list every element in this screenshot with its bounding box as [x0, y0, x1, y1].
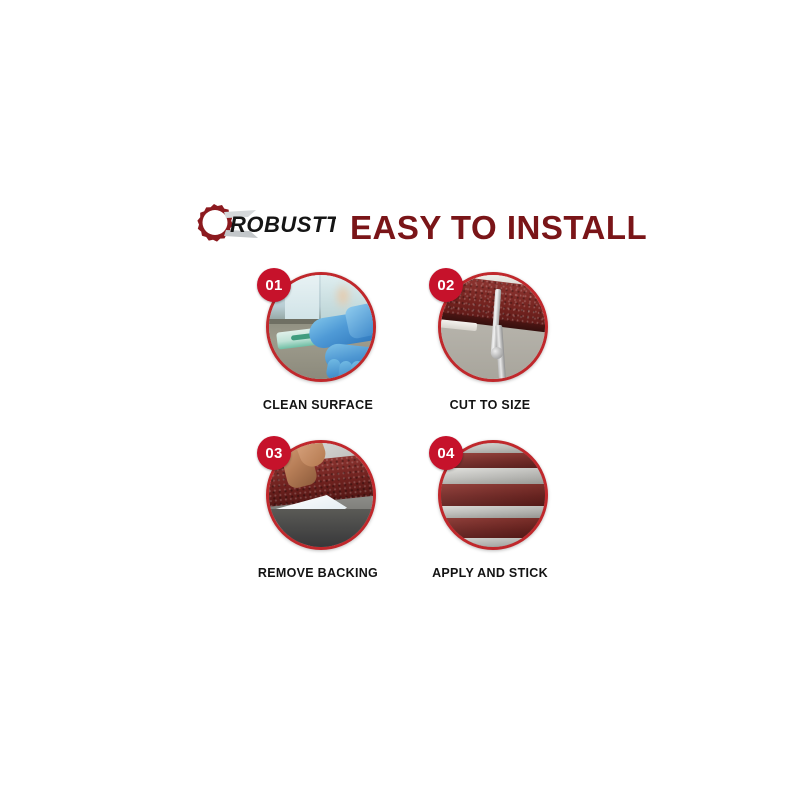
scissors-pivot — [491, 347, 503, 359]
steps-grid: 01 CLEAN SURFACE 02 — [232, 272, 568, 602]
step-3-image-wrap: 03 — [266, 440, 376, 550]
step-1-number-badge: 01 — [257, 268, 291, 302]
step-2-label: CUT TO SIZE — [450, 398, 531, 412]
step-2-number-badge: 02 — [429, 268, 463, 302]
step-2-image-wrap: 02 — [438, 272, 548, 382]
glove-cuff — [344, 302, 376, 340]
step-clean-surface: 01 CLEAN SURFACE — [232, 272, 404, 440]
logo-wordmark: ROBUSTT — [230, 212, 336, 237]
page-title: EASY TO INSTALL — [350, 211, 647, 244]
easy-to-install-infographic: ROBUSTT EASY TO INSTALL — [0, 0, 800, 800]
step-3-label: REMOVE BACKING — [258, 566, 378, 580]
robustt-logo: ROBUSTT — [186, 200, 336, 252]
step-remove-backing: 03 REMOVE BACKING — [232, 440, 404, 602]
robustt-logo-graphic: ROBUSTT — [186, 200, 336, 252]
step-1-label: CLEAN SURFACE — [263, 398, 373, 412]
glove-finger-3 — [351, 361, 365, 381]
header: ROBUSTT EASY TO INSTALL — [186, 196, 616, 256]
step-4-number-badge: 04 — [429, 436, 463, 470]
step-3-number-badge: 03 — [257, 436, 291, 470]
step-4-image-wrap: 04 — [438, 440, 548, 550]
dark-floor-foreground — [269, 509, 373, 547]
step-cut-to-size: 02 CUT TO SIZE — [404, 272, 576, 440]
step-4-label: APPLY AND STICK — [432, 566, 548, 580]
step-apply-and-stick: 04 APPLY AND STICK — [404, 440, 576, 602]
step-1-image-wrap: 01 — [266, 272, 376, 382]
